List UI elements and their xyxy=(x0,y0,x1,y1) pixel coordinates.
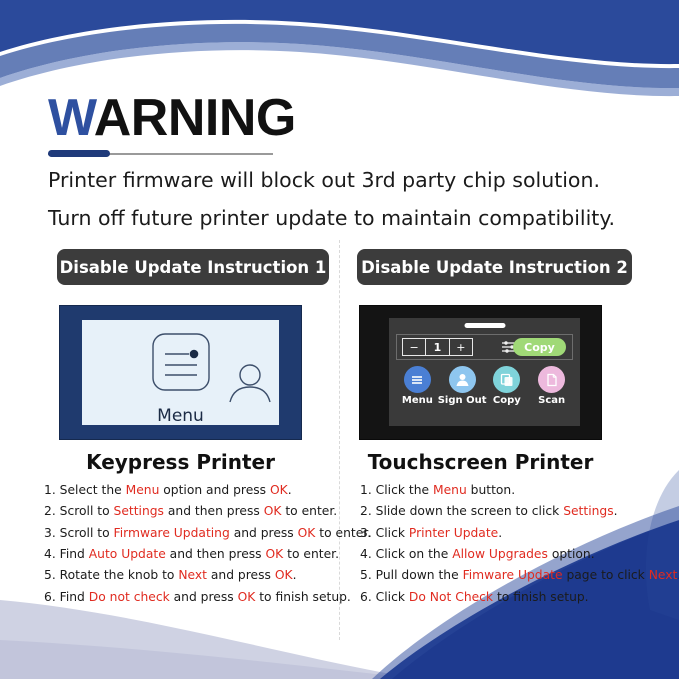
instruction-step: 2. Slide down the screen to click Settin… xyxy=(360,504,660,518)
subtitle-line-2: Turn off future printer update to mainta… xyxy=(48,206,615,230)
right-column-title: Touchscreen Printer xyxy=(359,450,602,474)
badge-instruction-1: Disable Update Instruction 1 xyxy=(57,249,329,285)
step-number: 6. xyxy=(360,590,376,604)
app-menu[interactable]: Menu xyxy=(395,366,439,406)
step-text: and then press xyxy=(166,547,266,561)
step-text: and press xyxy=(170,590,238,604)
step-keyword: Fimware Update xyxy=(463,568,563,582)
instruction-step: 6. Click Do Not Check to finish setup. xyxy=(360,590,660,604)
app-sign-out[interactable]: Sign Out xyxy=(440,366,484,406)
instruction-step: 5. Rotate the knob to Next and press OK. xyxy=(44,568,334,582)
step-keyword: Next xyxy=(649,568,678,582)
step-number: 6. xyxy=(44,590,60,604)
step-text: page to click xyxy=(563,568,649,582)
app-menu-label: Menu xyxy=(402,395,433,406)
right-steps-list: 1. Click the Menu button.2. Slide down t… xyxy=(360,483,660,611)
app-copy-label: Copy xyxy=(493,395,521,406)
step-keyword: Allow Upgrades xyxy=(452,547,548,561)
step-keyword: OK xyxy=(270,483,288,497)
step-keyword: Settings xyxy=(114,504,164,518)
keypress-menu-label: Menu xyxy=(157,406,204,426)
step-text: to finish setup. xyxy=(255,590,351,604)
title-rule-thick xyxy=(48,150,110,157)
touchscreen-top-row: − 1 + Copy xyxy=(396,334,573,360)
step-number: 3. xyxy=(360,526,376,540)
column-divider xyxy=(339,240,340,640)
step-text: Find xyxy=(60,590,89,604)
instruction-step: 4. Click on the Allow Upgrades option. xyxy=(360,547,660,561)
step-keyword: OK xyxy=(275,568,293,582)
step-keyword: Firmware Updating xyxy=(114,526,230,540)
step-text: Scroll to xyxy=(60,526,114,540)
step-keyword: OK xyxy=(265,547,283,561)
step-text: Slide down the screen to click xyxy=(376,504,564,518)
step-text: Click xyxy=(376,526,409,540)
instruction-step: 6. Find Do not check and press OK to fin… xyxy=(44,590,334,604)
step-keyword: Do Not Check xyxy=(409,590,493,604)
step-text: button. xyxy=(467,483,515,497)
person-icon xyxy=(227,362,273,404)
step-keyword: OK xyxy=(238,590,256,604)
title-highlight-letter: W xyxy=(48,89,94,147)
step-number: 5. xyxy=(360,568,376,582)
step-number: 3. xyxy=(44,526,60,540)
documents-icon[interactable] xyxy=(493,366,520,393)
stepper-value: 1 xyxy=(425,339,449,355)
quantity-stepper[interactable]: − 1 + xyxy=(402,338,473,356)
step-text: . xyxy=(288,483,292,497)
step-text: Click xyxy=(376,590,409,604)
drag-handle[interactable] xyxy=(464,323,505,328)
person-icon[interactable] xyxy=(449,366,476,393)
step-text: Pull down the xyxy=(376,568,463,582)
subtitle-line-1: Printer firmware will block out 3rd part… xyxy=(48,168,600,192)
instruction-step: 2. Scroll to Settings and then press OK … xyxy=(44,504,334,518)
title-underline xyxy=(48,150,273,158)
step-keyword: OK xyxy=(264,504,282,518)
instruction-step: 4. Find Auto Update and then press OK to… xyxy=(44,547,334,561)
step-text: Click on the xyxy=(376,547,453,561)
step-text: and press xyxy=(207,568,275,582)
step-keyword: Do not check xyxy=(89,590,170,604)
app-scan[interactable]: Scan xyxy=(530,366,574,406)
instruction-step: 3. Scroll to Firmware Updating and press… xyxy=(44,526,334,540)
instruction-step: 1. Select the Menu option and press OK. xyxy=(44,483,334,497)
step-text: option. xyxy=(548,547,595,561)
step-text: Select the xyxy=(60,483,126,497)
app-copy[interactable]: Copy xyxy=(485,366,529,406)
app-scan-label: Scan xyxy=(538,395,565,406)
step-text: and press xyxy=(230,526,298,540)
stepper-minus[interactable]: − xyxy=(403,339,425,355)
instruction-step: 3. Click Printer Update. xyxy=(360,526,660,540)
title-rest: ARNING xyxy=(94,89,296,147)
step-keyword: Settings xyxy=(563,504,613,518)
step-number: 4. xyxy=(360,547,376,561)
step-keyword: Next xyxy=(178,568,207,582)
step-text: Click the xyxy=(376,483,433,497)
step-keyword: Menu xyxy=(433,483,467,497)
instruction-step: 5. Pull down the Fimware Update page to … xyxy=(360,568,660,582)
keypress-printer-illustration: Menu xyxy=(59,305,302,440)
left-column-title: Keypress Printer xyxy=(59,450,302,474)
step-keyword: Menu xyxy=(126,483,160,497)
touchscreen-printer-illustration: − 1 + Copy xyxy=(359,305,602,440)
step-text: Rotate the knob to xyxy=(60,568,179,582)
step-keyword: Printer Update xyxy=(409,526,498,540)
copy-button[interactable]: Copy xyxy=(513,338,566,356)
step-keyword: Auto Update xyxy=(89,547,166,561)
step-text: to enter. xyxy=(281,504,337,518)
touchscreen-app-row: Menu Sign Out xyxy=(389,366,580,406)
step-number: 1. xyxy=(44,483,60,497)
step-text: . xyxy=(614,504,618,518)
step-text: to finish setup. xyxy=(493,590,589,604)
hamburger-icon[interactable] xyxy=(404,366,431,393)
step-text: to enter. xyxy=(283,547,339,561)
step-number: 5. xyxy=(44,568,60,582)
step-text: . xyxy=(498,526,502,540)
keypress-screen: Menu xyxy=(82,320,279,425)
document-menu-icon xyxy=(151,332,211,404)
step-text: . xyxy=(293,568,297,582)
touchscreen-screen: − 1 + Copy xyxy=(389,318,580,426)
step-number: 4. xyxy=(44,547,60,561)
badge-instruction-2: Disable Update Instruction 2 xyxy=(357,249,632,285)
left-steps-list: 1. Select the Menu option and press OK.2… xyxy=(44,483,334,611)
step-text: and then press xyxy=(164,504,264,518)
step-number: 1. xyxy=(360,483,376,497)
page-icon[interactable] xyxy=(538,366,565,393)
warning-infographic: WARNING Printer firmware will block out … xyxy=(0,0,679,679)
step-number: 2. xyxy=(360,504,376,518)
step-number: 2. xyxy=(44,504,60,518)
page-title: WARNING xyxy=(48,92,296,144)
step-text: option and press xyxy=(159,483,270,497)
stepper-plus[interactable]: + xyxy=(450,339,472,355)
step-text: Scroll to xyxy=(60,504,114,518)
app-sign-out-label: Sign Out xyxy=(438,395,487,406)
instruction-step: 1. Click the Menu button. xyxy=(360,483,660,497)
step-text: Find xyxy=(60,547,89,561)
step-keyword: OK xyxy=(298,526,316,540)
